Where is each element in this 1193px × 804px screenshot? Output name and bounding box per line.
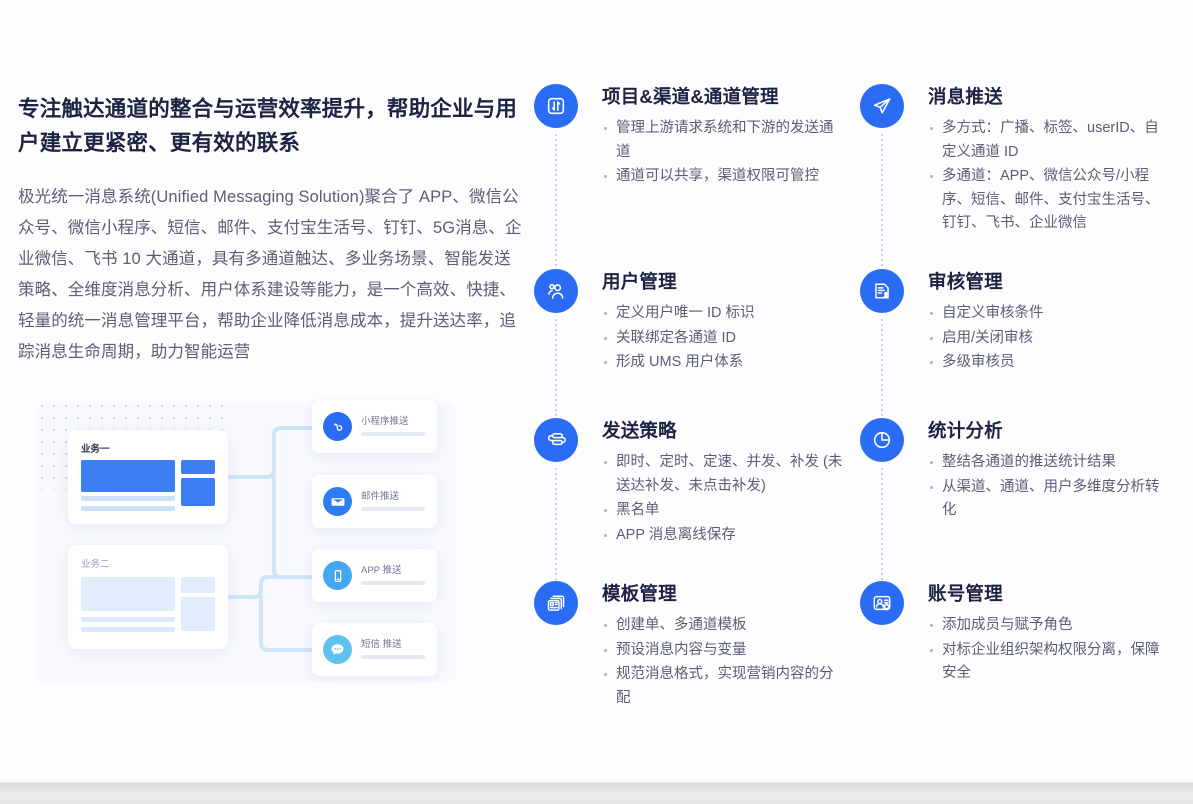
list-item: APP 消息离线保存 — [602, 524, 846, 548]
feature-item-list: 定义用户唯一 ID 标识 关联绑定各通道 ID 形成 UMS 用户体系 — [602, 302, 846, 375]
template-icon — [534, 581, 578, 625]
feature-item-list: 自定义审核条件 启用/关闭审核 多级审核员 — [928, 302, 1172, 375]
feature-item-list: 添加成员与赋予角色 对标企业组织架构权限分离，保障安全 — [928, 614, 1172, 686]
business-card-1: 业务一 — [68, 430, 228, 524]
feature-title: 发送策略 — [602, 418, 846, 444]
content-block — [181, 460, 215, 474]
list-item: 规范消息格式，实现营销内容的分配 — [602, 663, 846, 710]
feature-title: 用户管理 — [602, 269, 846, 295]
envelope-icon — [323, 487, 352, 516]
connector-dotline — [555, 319, 557, 432]
connector-dotline — [555, 134, 557, 280]
content-line — [81, 627, 175, 632]
channel-card-email: 邮件推送 — [312, 475, 437, 528]
list-item: 启用/关闭审核 — [928, 327, 1172, 351]
feature-title: 审核管理 — [928, 269, 1172, 295]
content-line — [81, 617, 175, 622]
intro-section: 专注触达通道的整合与运营效率提升，帮助企业与用户建立更紧密、更有效的联系 极光统… — [18, 92, 524, 368]
channel-card-label: 短信 推送 — [361, 636, 402, 650]
page-title: 专注触达通道的整合与运营效率提升，帮助企业与用户建立更紧密、更有效的联系 — [18, 92, 524, 160]
send-strategy-icon — [534, 418, 578, 462]
content-block — [81, 460, 175, 492]
list-item: 通道可以共享，渠道权限可管控 — [602, 165, 846, 189]
channel-management-icon — [534, 84, 578, 128]
connector-dotline — [881, 134, 883, 280]
account-settings-icon — [860, 581, 904, 625]
list-item: 多通道：APP、微信公众号/小程序、短信、邮件、支付宝生活号、钉钉、飞书、企业微… — [928, 165, 1172, 236]
channel-card-label: APP 推送 — [361, 562, 401, 576]
feature-item-list: 管理上游请求系统和下游的发送通道 通道可以共享，渠道权限可管控 — [602, 117, 846, 189]
paper-plane-icon — [860, 84, 904, 128]
audit-icon — [860, 269, 904, 313]
miniprogram-icon — [323, 412, 352, 441]
list-item: 多级审核员 — [928, 351, 1172, 375]
channel-card-label: 邮件推送 — [361, 488, 399, 502]
horizontal-scrollbar[interactable] — [0, 782, 1193, 804]
feature-item-list: 整结各通道的推送统计结果 从渠道、通道、用户多维度分析转化 — [928, 451, 1172, 523]
intro-paragraph: 极光统一消息系统(Unified Messaging Solution)聚合了 … — [18, 182, 524, 368]
list-item: 自定义审核条件 — [928, 302, 1172, 326]
list-item: 预设消息内容与变量 — [602, 639, 846, 663]
feature-item-list: 多方式：广播、标签、userID、自定义通道 ID 多通道：APP、微信公众号/… — [928, 117, 1172, 236]
page-root: 专注触达通道的整合与运营效率提升，帮助企业与用户建立更紧密、更有效的联系 极光统… — [0, 0, 1193, 804]
feature-title: 账号管理 — [928, 581, 1172, 607]
business-card-2: 业务二 — [68, 545, 228, 649]
feature-title: 消息推送 — [928, 84, 1172, 110]
list-item: 从渠道、通道、用户多维度分析转化 — [928, 476, 1172, 523]
feature-title: 模板管理 — [602, 581, 846, 607]
list-item: 黑名单 — [602, 499, 846, 523]
feature-item-list: 即时、定时、定速、并发、补发 (未送达补发、未点击补发) 黑名单 APP 消息离… — [602, 451, 846, 547]
channel-card-label: 小程序推送 — [361, 413, 409, 427]
placeholder-line — [361, 655, 425, 659]
list-item: 定义用户唯一 ID 标识 — [602, 302, 846, 326]
list-item: 对标企业组织架构权限分离，保障安全 — [928, 639, 1172, 686]
feature-item-list: 创建单、多通道模板 预设消息内容与变量 规范消息格式，实现营销内容的分配 — [602, 614, 846, 710]
business-card-title: 业务二 — [81, 556, 110, 570]
content-block — [181, 478, 215, 506]
mobile-icon — [323, 561, 352, 590]
feature-title: 项目&渠道&通道管理 — [602, 84, 846, 110]
list-item: 关联绑定各通道 ID — [602, 327, 846, 351]
content-block — [181, 577, 215, 593]
list-item: 多方式：广播、标签、userID、自定义通道 ID — [928, 117, 1172, 164]
pie-chart-icon — [860, 418, 904, 462]
content-block — [181, 597, 215, 631]
placeholder-line — [361, 507, 425, 511]
placeholder-line — [361, 581, 425, 585]
business-card-title: 业务一 — [81, 441, 110, 455]
list-item: 即时、定时、定速、并发、补发 (未送达补发、未点击补发) — [602, 451, 846, 498]
list-item: 形成 UMS 用户体系 — [602, 351, 846, 375]
channel-card-sms: 短信 推送 — [312, 623, 437, 676]
content-line — [81, 496, 175, 501]
chat-bubble-icon — [323, 635, 352, 664]
channel-card-app: APP 推送 — [312, 549, 437, 602]
list-item: 管理上游请求系统和下游的发送通道 — [602, 117, 846, 164]
placeholder-line — [361, 432, 425, 436]
list-item: 创建单、多通道模板 — [602, 614, 846, 638]
connector-dotline — [881, 319, 883, 432]
channel-card-miniprogram: 小程序推送 — [312, 400, 437, 453]
feature-title: 统计分析 — [928, 418, 1172, 444]
list-item: 整结各通道的推送统计结果 — [928, 451, 1172, 475]
users-icon — [534, 269, 578, 313]
architecture-illustration: 业务一 业务二 小程序推送 — [22, 388, 474, 694]
content-line — [81, 506, 175, 511]
content-block — [81, 577, 175, 611]
list-item: 添加成员与赋予角色 — [928, 614, 1172, 638]
